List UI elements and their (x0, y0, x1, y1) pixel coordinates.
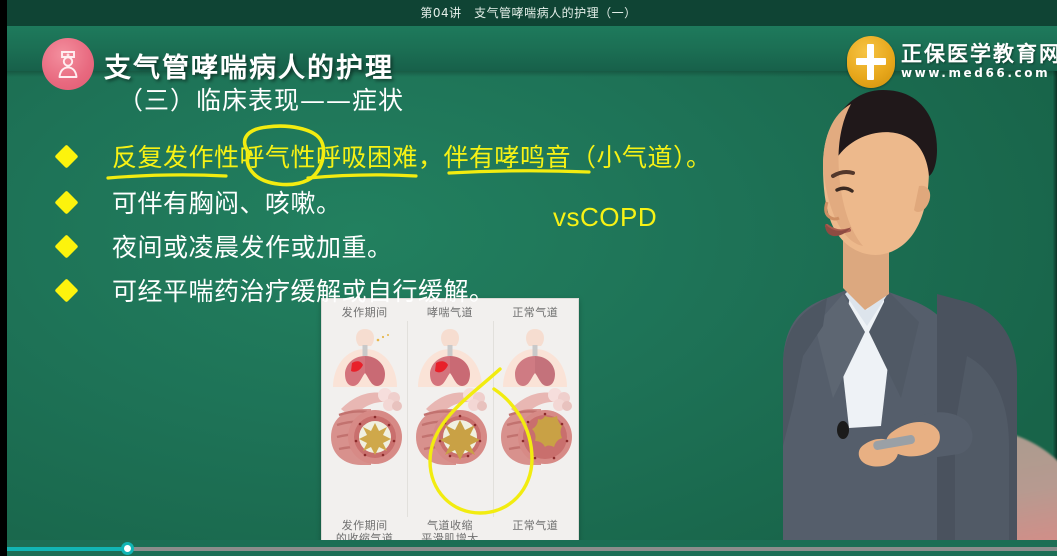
airway-cross-section-constricted-icon (325, 385, 405, 477)
progress-track[interactable] (0, 547, 1057, 551)
decorative-blob (837, 428, 1057, 540)
brand-logo: 正保医学教育网 www.med66.com (847, 36, 1049, 88)
video-progress-bar[interactable] (0, 540, 1057, 556)
slide-board: 支气管哮喘病人的护理 正保医学教育网 www.med66.com （三）临床表现… (0, 26, 1057, 540)
figure-top-labels: 发作期间 哮喘气道 正常气道 (322, 306, 578, 320)
bullet-text-4: 可经平喘药治疗缓解或自行缓解。 (112, 272, 495, 308)
airway-cross-section-normal-icon (495, 385, 575, 477)
figure-top-label-3: 正常气道 (493, 306, 578, 320)
figure-column-normal (493, 323, 578, 513)
diamond-bullet-icon (54, 144, 78, 168)
figure-bottom-label-1: 发作期间 的收缩气道 (322, 519, 407, 541)
slide-subtitle: （三）临床表现——症状 (118, 81, 404, 117)
page-title: 支气管哮喘病人的护理 (104, 46, 394, 85)
diamond-bullet-icon (54, 278, 78, 302)
underline-annotation-2 (308, 175, 416, 178)
torso-illustration-icon (498, 325, 572, 387)
cross-shield-logo-icon (847, 36, 895, 88)
figure-top-label-1: 发作期间 (322, 306, 407, 320)
figure-bottom-label-1-line1: 发作期间 (322, 519, 407, 533)
nurse-icon (42, 38, 94, 90)
underline-annotation-1 (108, 175, 226, 178)
figure-bottom-label-2-line2: 平滑肌增大 (407, 532, 492, 540)
asthma-airway-comparison-diagram: 发作期间 哮喘气道 正常气道 (321, 298, 579, 540)
video-player-stage: 第04讲 支气管哮喘病人的护理（一） 支气管哮喘病人的护理 正保医学教育网 ww… (0, 0, 1057, 556)
bullet-item-1: 反复发作性呼气性呼吸困难，伴有哮鸣音（小气道）。 (58, 139, 712, 173)
side-note-vscopd: vsCOPD (553, 202, 657, 233)
brand-url: www.med66.com (901, 65, 1057, 82)
figure-bottom-label-3-line1: 正常气道 (493, 519, 578, 533)
figure-column-asthma (407, 323, 492, 513)
figure-bottom-label-2: 气道收缩 平滑肌增大 (407, 519, 492, 541)
bullet-text-2: 可伴有胸闷、咳嗽。 (112, 184, 342, 220)
figure-bottom-label-3: 正常气道 (493, 519, 578, 541)
figure-top-label-2: 哮喘气道 (407, 306, 492, 320)
bullet-item-4: 可经平喘药治疗缓解或自行缓解。 (58, 273, 495, 307)
torso-illustration-icon (328, 325, 402, 387)
lecture-topbar: 第04讲 支气管哮喘病人的护理（一） (0, 0, 1057, 26)
figure-column-attack (322, 323, 407, 513)
brand-name: 正保医学教育网 (901, 43, 1057, 65)
bullet-text-1: 反复发作性呼气性呼吸困难，伴有哮鸣音（小气道）。 (112, 138, 712, 174)
progress-knob[interactable] (121, 542, 134, 555)
bullet-item-3: 夜间或凌晨发作或加重。 (58, 229, 393, 263)
bullet-text-3: 夜间或凌晨发作或加重。 (112, 228, 393, 264)
lecture-title-text: 第04讲 支气管哮喘病人的护理（一） (0, 4, 1057, 21)
figure-columns (322, 323, 578, 513)
figure-bottom-label-1-line2: 的收缩气道 (322, 532, 407, 540)
diamond-bullet-icon (54, 234, 78, 258)
figure-bottom-labels: 发作期间 的收缩气道 气道收缩 平滑肌增大 正常气道 (322, 519, 578, 541)
letterbox-left (0, 0, 7, 556)
bullet-item-2: 可伴有胸闷、咳嗽。 (58, 185, 342, 219)
progress-fill (0, 547, 127, 551)
diamond-bullet-icon (54, 190, 78, 214)
airway-cross-section-asthma-icon (410, 385, 490, 477)
figure-bottom-label-2-line1: 气道收缩 (407, 519, 492, 533)
torso-illustration-icon (413, 325, 487, 387)
